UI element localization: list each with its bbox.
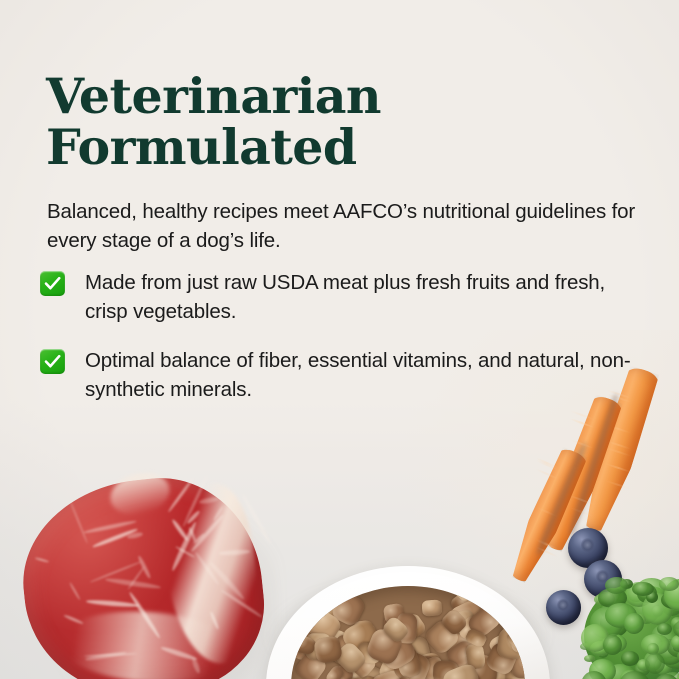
- raw-steak-image: [18, 462, 276, 679]
- page-title-line-1: Veterinarian: [46, 67, 381, 125]
- kale-frill: [605, 577, 628, 594]
- blueberry-crown: [557, 599, 569, 611]
- kale-frill: [659, 577, 679, 591]
- green-check-icon: [40, 349, 65, 374]
- list-item: Made from just raw USDA meat plus fresh …: [38, 268, 638, 326]
- page-title-line-2: Formulated: [46, 122, 606, 173]
- green-check-icon: [40, 271, 65, 296]
- kale-frill: [603, 635, 622, 656]
- kibble-bowl-image: [258, 556, 558, 679]
- kale-frill: [584, 655, 595, 662]
- list-item-label: Made from just raw USDA meat plus fresh …: [85, 271, 605, 323]
- page-title: Veterinarian Formulated: [46, 71, 606, 173]
- kale-image: [582, 570, 679, 679]
- lede-paragraph: Balanced, healthy recipes meet AAFCO’s n…: [47, 197, 647, 255]
- product-feature-panel: Veterinarian Formulated Balanced, health…: [0, 0, 679, 679]
- kale-frill: [671, 635, 679, 650]
